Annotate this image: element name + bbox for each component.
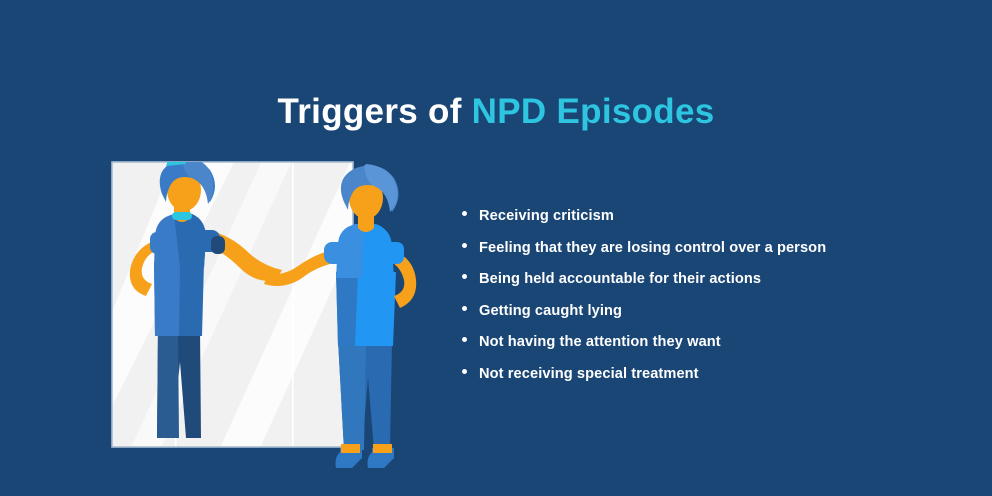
title-part-accent: NPD Episodes	[472, 92, 715, 131]
bullet-dot-icon	[462, 211, 467, 216]
list-item-label: Getting caught lying	[479, 303, 622, 319]
list-item: Feeling that they are losing control ove…	[462, 240, 962, 272]
list-item-label: Being held accountable for their actions	[479, 271, 761, 287]
page-title: Triggers ofNPD Episodes	[0, 92, 992, 132]
bullet-dot-icon	[462, 337, 467, 342]
list-item-label: Feeling that they are losing control ove…	[479, 240, 826, 256]
list-item: Receiving criticism	[462, 208, 962, 240]
list-item: Getting caught lying	[462, 303, 962, 335]
crown-icon	[166, 150, 186, 166]
bullet-dot-icon	[462, 274, 467, 279]
bullet-dot-icon	[462, 243, 467, 248]
illustration-mirror-scene	[100, 150, 430, 482]
bullet-dot-icon	[462, 306, 467, 311]
title-part-primary: Triggers of	[278, 92, 462, 131]
list-item-label: Not receiving special treatment	[479, 366, 699, 382]
slide-canvas: Triggers ofNPD Episodes	[0, 0, 992, 496]
bullet-dot-icon	[462, 369, 467, 374]
list-item-label: Not having the attention they want	[479, 334, 721, 350]
list-item: Being held accountable for their actions	[462, 271, 962, 303]
trigger-list: Receiving criticism Feeling that they ar…	[462, 208, 962, 398]
list-item: Not receiving special treatment	[462, 366, 962, 398]
list-item: Not having the attention they want	[462, 334, 962, 366]
list-item-label: Receiving criticism	[479, 208, 614, 224]
